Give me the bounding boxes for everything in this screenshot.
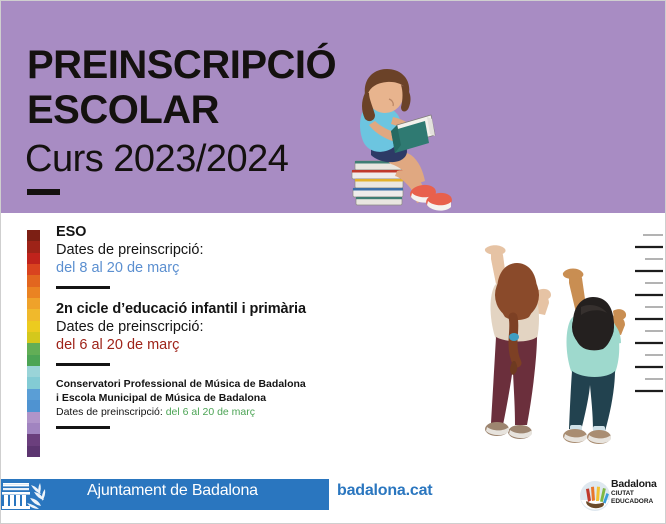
- color-strip-band-11: [27, 355, 40, 366]
- section-label: Dates de preinscripció:: [56, 318, 456, 336]
- page-title: PREINSCRIPCIÓ ESCOLAR: [27, 43, 336, 133]
- conservatory-line-2: i Escola Municipal de Música de Badalona: [56, 391, 456, 405]
- section-divider: [56, 286, 110, 289]
- badalona-ciutat-educadora-wordmark: Badalona CIUTAT EDUCADORA: [611, 479, 666, 505]
- section-title: ESO: [56, 223, 456, 241]
- color-strip-band-16: [27, 412, 40, 423]
- color-strip-band-4: [27, 275, 40, 286]
- color-strip-band-19: [27, 446, 40, 457]
- section-label: Dates de preinscripció:: [56, 241, 456, 259]
- section-dates: del 6 al 20 de març: [56, 336, 456, 354]
- color-strip-band-2: [27, 253, 40, 264]
- color-strip-band-7: [27, 309, 40, 320]
- conservatory-dates: del 6 al 20 de març: [166, 406, 255, 418]
- two-children-measuring-height-icon: [463, 233, 666, 467]
- color-strip-band-15: [27, 400, 40, 411]
- girl-reading-icon: [335, 63, 463, 213]
- poster-header: PREINSCRIPCIÓ ESCOLAR Curs 2023/2024: [1, 1, 666, 213]
- edu-logo-name: Badalona: [611, 479, 666, 490]
- section-conservatori: Conservatori Professional de Música de B…: [56, 377, 456, 429]
- color-strip-band-5: [27, 287, 40, 298]
- color-strip-band-14: [27, 389, 40, 400]
- conservatory-dates-row: Dates de preinscripció: del 6 al 20 de m…: [56, 405, 456, 419]
- color-strip-band-1: [27, 241, 40, 252]
- color-strip-band-9: [27, 332, 40, 343]
- edu-logo-sub1: CIUTAT: [611, 490, 666, 498]
- conservatory-line-1: Conservatori Professional de Música de B…: [56, 377, 456, 391]
- title-underline-rule: [27, 189, 60, 195]
- color-strip-band-10: [27, 343, 40, 354]
- edu-logo-sub2: EDUCADORA: [611, 498, 666, 506]
- color-strip-band-3: [27, 264, 40, 275]
- ajuntament-label: Ajuntament de Badalona: [87, 482, 258, 500]
- color-strip-band-12: [27, 366, 40, 377]
- section-title: 2n cicle d’educació infantil i primària: [56, 300, 456, 318]
- color-strip-band-17: [27, 423, 40, 434]
- color-strip-band-8: [27, 321, 40, 332]
- conservatory-divider: [56, 426, 110, 429]
- poster-footer: Ajuntament de Badalona badalona.cat Bada…: [1, 465, 666, 523]
- color-strip-band-13: [27, 377, 40, 388]
- child-left: [485, 245, 551, 439]
- section-infantil-primaria: 2n cicle d’educació infantil i primària …: [56, 300, 456, 366]
- badalona-cat-link[interactable]: badalona.cat: [337, 482, 432, 500]
- preinscripcio-escolar-poster: PREINSCRIPCIÓ ESCOLAR Curs 2023/2024: [0, 0, 666, 524]
- page-subtitle: Curs 2023/2024: [25, 138, 288, 180]
- color-strip-band-6: [27, 298, 40, 309]
- ajuntament-de-badalona-crest-icon: [1, 479, 55, 510]
- height-ruler-icon: [635, 235, 663, 391]
- conservatory-label: Dates de preinscripció:: [56, 406, 166, 418]
- vertical-gradient-color-strip: [27, 230, 40, 457]
- section-dates: del 8 al 20 de març: [56, 259, 456, 277]
- color-strip-band-18: [27, 434, 40, 445]
- color-strip-band-0: [27, 230, 40, 241]
- section-eso: ESO Dates de preinscripció: del 8 al 20 …: [56, 223, 456, 289]
- section-divider: [56, 363, 110, 366]
- sections-content: ESO Dates de preinscripció: del 8 al 20 …: [56, 223, 456, 429]
- child-right: [563, 269, 626, 445]
